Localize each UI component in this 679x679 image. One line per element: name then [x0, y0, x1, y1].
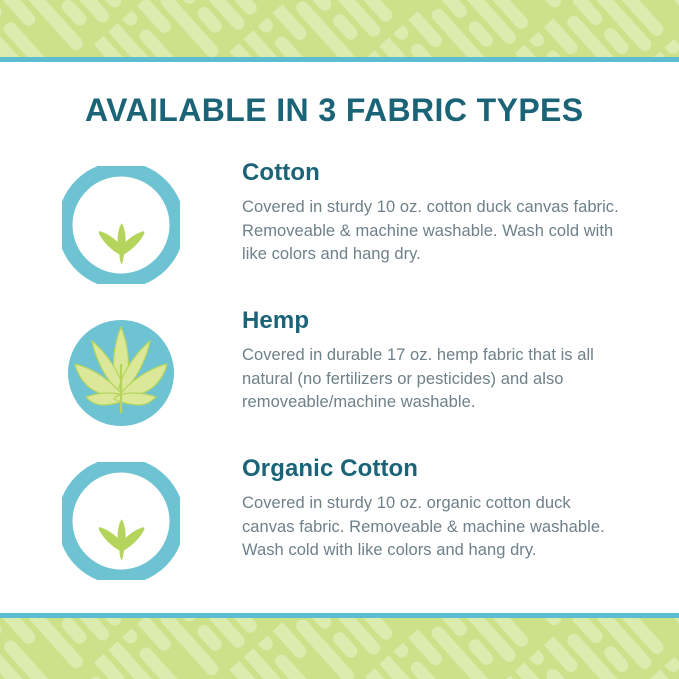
fabric-list: Cotton Covered in sturdy 10 oz. cotton d… [0, 160, 679, 604]
fabric-item-hemp: Hemp Covered in durable 17 oz. hemp fabr… [0, 308, 679, 456]
page-title: AVAILABLE IN 3 FABRIC TYPES [85, 92, 584, 129]
diagonal-stripe-pattern-icon [0, 0, 679, 57]
cotton-boll-icon-graphic [62, 462, 180, 580]
fabric-name-organic-cotton: Organic Cotton [242, 456, 624, 481]
cotton-boll-icon [62, 462, 180, 580]
cotton-boll-icon-graphic [62, 166, 180, 284]
bottom-pattern-band [0, 613, 679, 679]
fabric-text-organic-cotton: Organic Cotton Covered in sturdy 10 oz. … [180, 456, 679, 563]
top-pattern-fill [0, 0, 679, 57]
hemp-leaf-icon-graphic [62, 314, 180, 432]
fabric-name-cotton: Cotton [242, 160, 624, 185]
top-band-blue-rule [0, 57, 679, 62]
fabric-item-cotton: Cotton Covered in sturdy 10 oz. cotton d… [0, 160, 679, 308]
fabric-types-infographic: AVAILABLE IN 3 FABRIC TYPES Cotton Cover… [0, 0, 679, 679]
fabric-description-cotton: Covered in sturdy 10 oz. cotton duck can… [242, 196, 624, 267]
fabric-description-hemp: Covered in durable 17 oz. hemp fabric th… [242, 344, 624, 415]
fabric-text-hemp: Hemp Covered in durable 17 oz. hemp fabr… [180, 308, 679, 415]
fabric-name-hemp: Hemp [242, 308, 624, 333]
fabric-description-organic-cotton: Covered in sturdy 10 oz. organic cotton … [242, 492, 624, 563]
fabric-item-organic-cotton: Organic Cotton Covered in sturdy 10 oz. … [0, 456, 679, 604]
diagonal-stripe-pattern-icon [0, 618, 679, 679]
cotton-boll-icon [62, 166, 180, 284]
bottom-pattern-fill [0, 618, 679, 679]
fabric-text-cotton: Cotton Covered in sturdy 10 oz. cotton d… [180, 160, 679, 267]
hemp-leaf-icon [62, 314, 180, 432]
top-pattern-band [0, 0, 679, 62]
